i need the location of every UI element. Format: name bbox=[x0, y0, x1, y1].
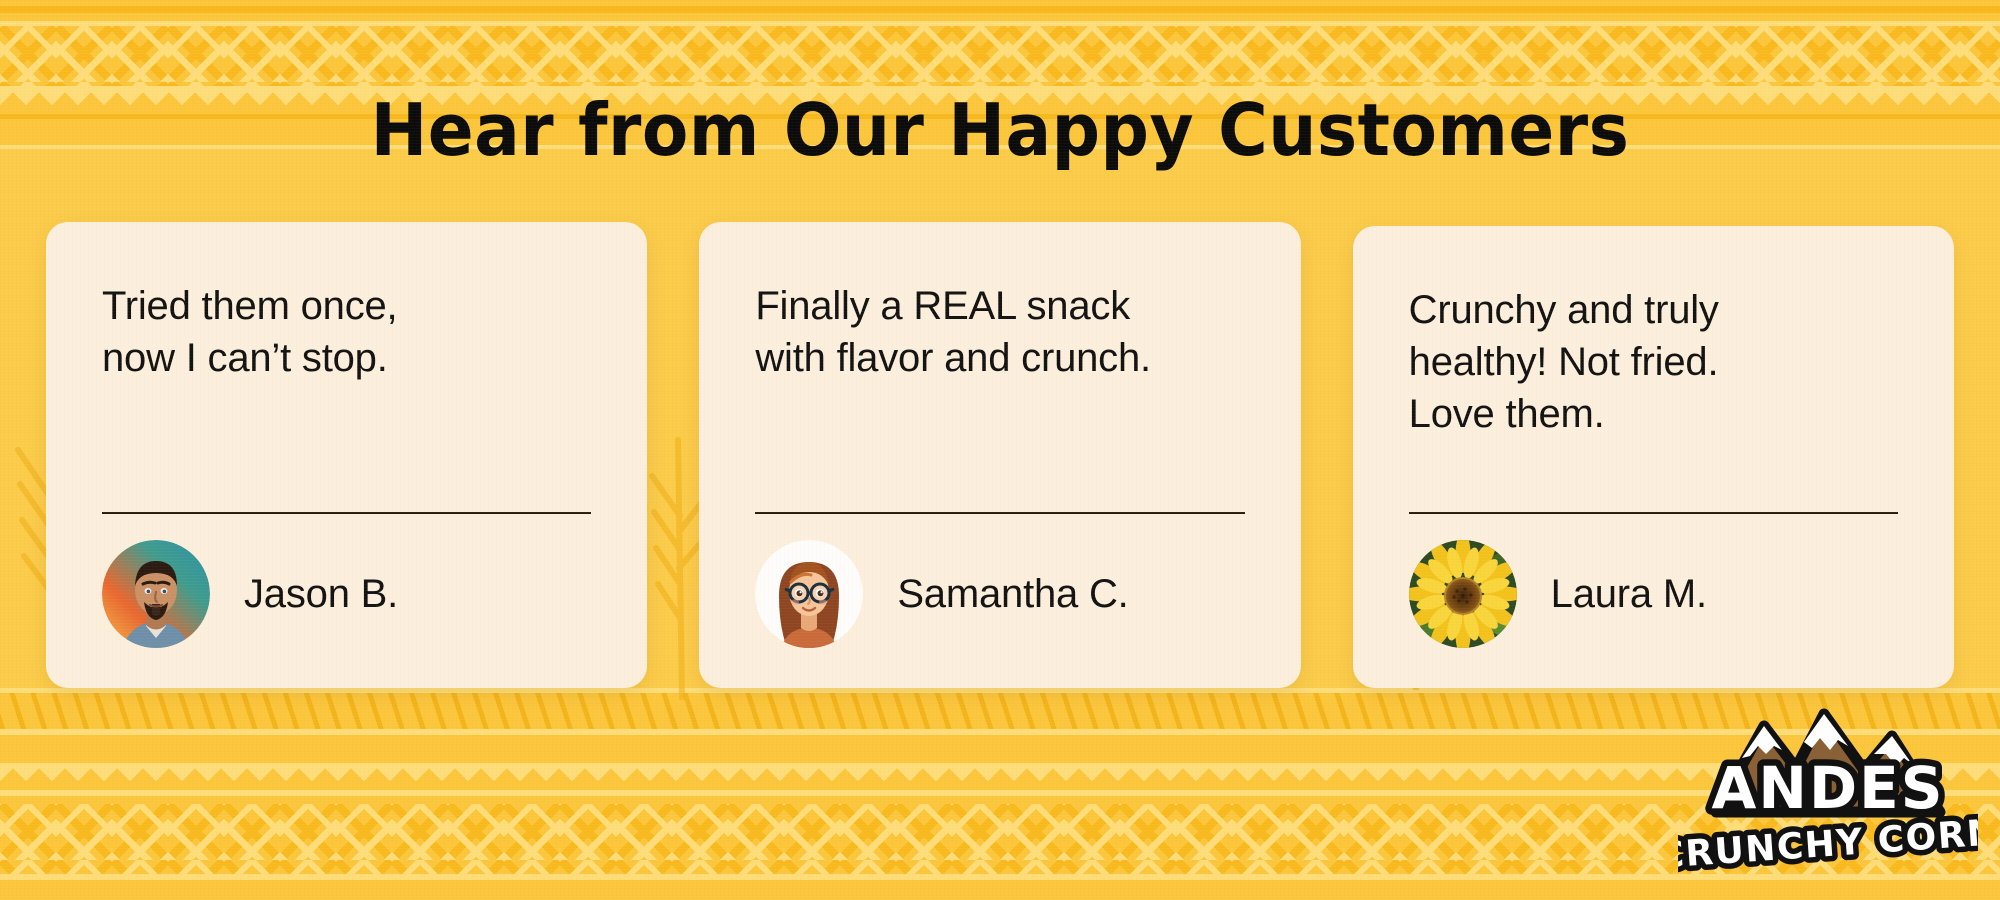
top-border-diamond-band bbox=[0, 26, 2000, 86]
avatar bbox=[755, 540, 863, 648]
testimonial-quote: Finally a REAL snack with flavor and cru… bbox=[755, 280, 1244, 384]
avatar bbox=[1409, 540, 1517, 648]
brand-logo[interactable]: ANDES CRUNCHY CORN bbox=[1678, 684, 1978, 884]
testimonial-author: Laura M. bbox=[1551, 572, 1707, 617]
testimonial-attribution: Jason B. bbox=[102, 514, 591, 648]
testimonial-author: Samantha C. bbox=[897, 572, 1128, 617]
testimonial-card[interactable]: Finally a REAL snack with flavor and cru… bbox=[699, 222, 1300, 688]
page-title: Hear from Our Happy Customers bbox=[60, 88, 1940, 172]
top-border-rule-1 bbox=[0, 6, 2000, 13]
testimonial-quote: Crunchy and truly healthy! Not fried. Lo… bbox=[1409, 284, 1898, 440]
testimonial-attribution: Samantha C. bbox=[755, 514, 1244, 648]
testimonial-banner: Hear from Our Happy Customers Tried them… bbox=[0, 0, 2000, 900]
top-border-gap-1 bbox=[0, 13, 2000, 21]
avatar bbox=[102, 540, 210, 648]
testimonial-card[interactable]: Crunchy and truly healthy! Not fried. Lo… bbox=[1353, 226, 1954, 688]
testimonial-attribution: Laura M. bbox=[1409, 514, 1898, 648]
logo-line1: ANDES bbox=[1712, 754, 1945, 822]
testimonial-card[interactable]: Tried them once, now I can’t stop. bbox=[46, 222, 647, 688]
testimonial-quote: Tried them once, now I can’t stop. bbox=[102, 280, 591, 384]
testimonial-author: Jason B. bbox=[244, 572, 398, 617]
testimonial-card-list: Tried them once, now I can’t stop. bbox=[46, 222, 1954, 688]
